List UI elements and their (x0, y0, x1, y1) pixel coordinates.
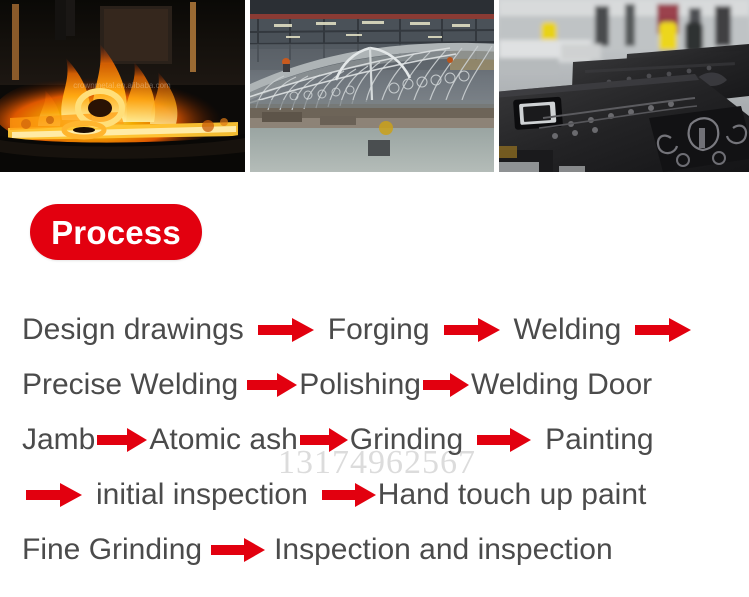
process-step: Painting (545, 425, 653, 455)
right-arrow-icon (97, 427, 147, 453)
svg-text:crownmetal.en.alibaba.com: crownmetal.en.alibaba.com (73, 81, 171, 90)
process-badge: Process (30, 204, 202, 260)
process-badge-label: Process (51, 216, 181, 249)
process-step: Hand touch up paint (378, 480, 647, 510)
process-step: Design drawings (22, 315, 244, 345)
right-arrow-icon (211, 537, 265, 563)
process-step: Inspection and inspection (274, 535, 613, 565)
process-step: Forging (328, 315, 430, 345)
right-arrow-icon (247, 372, 297, 398)
right-arrow-icon (635, 317, 691, 343)
process-step: Polishing (299, 370, 421, 400)
process-step: initial inspection (96, 480, 308, 510)
process-flow-line: initial inspection Hand touch up paint (0, 467, 749, 522)
painted-iron-doors-photo (499, 0, 749, 172)
right-arrow-icon (444, 317, 500, 343)
right-arrow-icon (258, 317, 314, 343)
process-step: Grinding (350, 425, 463, 455)
process-step: Welding Door (471, 370, 652, 400)
process-step: Precise Welding (22, 370, 238, 400)
process-step: Atomic ash (149, 425, 297, 455)
process-step: Welding (514, 315, 622, 345)
right-arrow-icon (322, 482, 376, 508)
right-arrow-icon (477, 427, 531, 453)
right-arrow-icon (26, 482, 82, 508)
process-step: Fine Grinding (22, 535, 202, 565)
process-flow-line: Design drawings Forging Welding (0, 302, 749, 357)
process-flow-line: Jamb Atomic ash Grinding Painting (0, 412, 749, 467)
right-arrow-icon (423, 372, 469, 398)
right-arrow-icon (300, 427, 348, 453)
process-section: Process 13174962567 Design drawings Forg… (0, 172, 749, 597)
iron-canopy-fabrication-photo (250, 0, 494, 172)
photo-strip: crownmetal.en.alibaba.com (0, 0, 749, 172)
forging-furnace-photo: crownmetal.en.alibaba.com (0, 0, 245, 172)
process-flow-list: Design drawings Forging Welding Precise … (0, 302, 749, 577)
process-flow-line: Precise Welding Polishing Welding Door (0, 357, 749, 412)
process-flow-line: Fine Grinding Inspection and inspection (0, 522, 749, 577)
process-step: Jamb (22, 425, 95, 455)
